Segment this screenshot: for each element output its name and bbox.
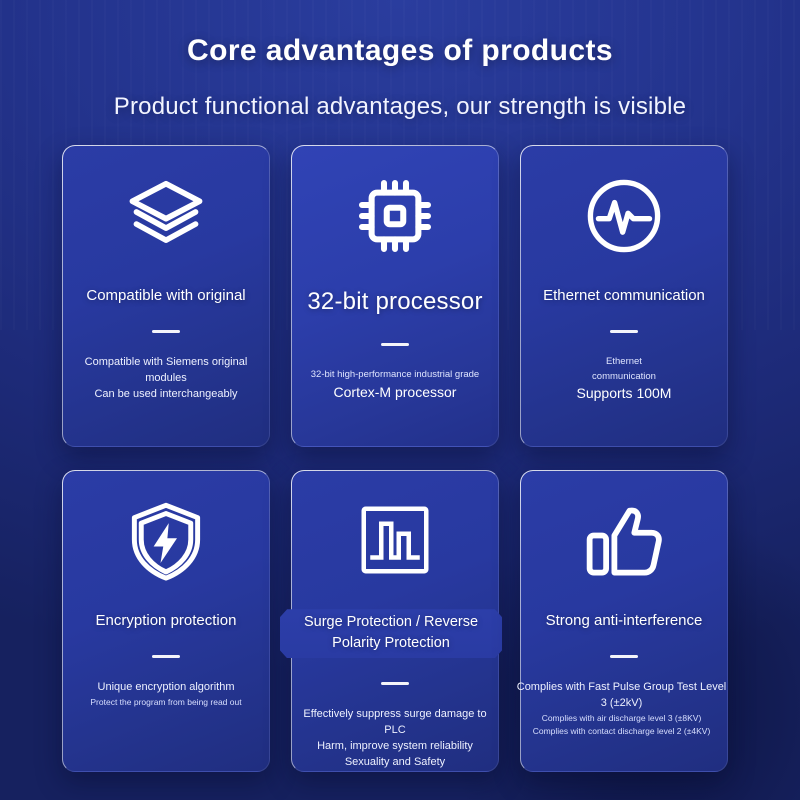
card-description-line: Harm, improve system reliability [298,739,492,755]
card-description: Unique encryption algorithmProtect the p… [63,680,269,709]
advantage-card[interactable]: Compatible with originalCompatible with … [62,145,270,447]
card-description-line: Compatible with Siemens original [69,355,263,371]
card-description: 32-bit high-performance industrial grade… [292,368,498,402]
card-divider [152,330,180,333]
card-divider [610,330,638,333]
card-title: Encryption protection [63,611,269,631]
card-title: Strong anti-interference [521,611,727,631]
advantage-card[interactable]: Encryption protectionUnique encryption a… [62,470,270,772]
card-divider [152,655,180,658]
card-description: Complies with Fast Pulse Group Test Leve… [514,680,730,737]
pulse-circle-icon [521,146,727,286]
product-advantages-page: Core advantages of products Product func… [0,0,800,800]
card-description-line: Unique encryption algorithm [69,680,263,696]
advantage-card[interactable]: 32-bit processor32-bit high-performance … [291,145,499,447]
page-headings: Core advantages of products Product func… [0,0,800,121]
card-description-line: Protect the program from being read out [69,696,263,709]
card-description-line: 32-bit high-performance industrial grade [298,368,492,382]
card-title: Compatible with original [63,286,269,306]
layers-icon [63,146,269,286]
card-divider [610,655,638,658]
shield-bolt-icon [63,471,269,611]
advantage-card[interactable]: Ethernet communicationEthernetcommunicat… [520,145,728,447]
card-description-line: Supports 100M [527,384,721,404]
card-description-line: Ethernet [527,355,721,369]
card-description-line: Sexuality and Safety [298,755,492,771]
card-title: Surge Protection / Reverse Polarity Prot… [280,609,502,658]
card-description-line: Cortex-M processor [298,383,492,403]
advantage-card-grid: Compatible with originalCompatible with … [62,145,738,772]
card-description-line: communication [527,370,721,384]
surge-waveform-icon [292,471,498,609]
processor-chip-icon [292,146,498,286]
card-description-line: Complies with air discharge level 3 (±8K… [514,712,730,725]
advantage-card[interactable]: Surge Protection / Reverse Polarity Prot… [291,470,499,772]
card-description: EthernetcommunicationSupports 100M [521,355,727,403]
card-description: Effectively suppress surge damage to PLC… [292,707,498,771]
card-divider [381,682,409,685]
card-title: Ethernet communication [521,286,727,306]
page-title: Core advantages of products [0,34,800,68]
card-description-line: Can be used interchangeably [69,387,263,403]
card-description-line: Complies with contact discharge level 2 … [514,725,730,738]
card-description: Compatible with Siemens originalmodulesC… [63,355,269,403]
card-description-line: modules [69,371,263,387]
card-title: 32-bit processor [292,286,498,318]
thumbs-up-icon [521,471,727,611]
card-description-line: Effectively suppress surge damage to PLC [298,707,492,739]
page-subtitle: Product functional advantages, our stren… [0,93,800,121]
card-divider [381,343,409,346]
advantage-card[interactable]: Strong anti-interferenceComplies with Fa… [520,470,728,772]
card-description-line: Complies with Fast Pulse Group Test Leve… [514,680,730,712]
